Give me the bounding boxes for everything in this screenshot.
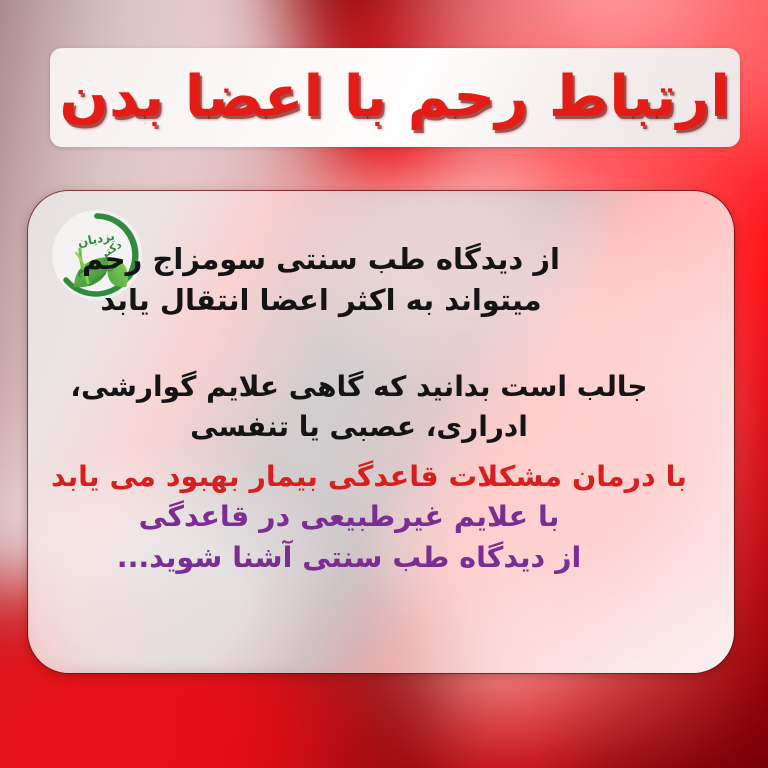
paragraph-three: با درمان مشکلات قاعدگی بیمار بهبود می یا… [28, 457, 710, 578]
paragraph-two-line-1: جالب است بدانید که گاهی علایم گوارشی، [28, 367, 710, 407]
page-title: ارتباط رحم با اعضا بدن [60, 69, 731, 126]
paragraph-three-line-1: با درمان مشکلات قاعدگی بیمار بهبود می یا… [28, 457, 710, 497]
paragraph-one-line-1: از دیدگاه طب سنتی سومزاج رحم [28, 239, 710, 280]
paragraph-three-line-3: از دیدگاه طب سنتی آشنا شوید... [28, 538, 710, 578]
card-inner: یزدیان دکتر مریم طب سنتی از دیدگاه طب سن… [28, 191, 734, 673]
paragraph-two: جالب است بدانید که گاهی علایم گوارشی، اد… [28, 367, 710, 447]
card-text-content: از دیدگاه طب سنتی سومزاج رحم میتواند به … [28, 231, 710, 578]
paragraph-two-line-2: ادراری، عصبی یا تنفسی [28, 407, 710, 447]
content-card: یزدیان دکتر مریم طب سنتی از دیدگاه طب سن… [27, 190, 735, 674]
paragraph-three-line-2: با علایم غیرطبیعی در قاعدگی [28, 497, 710, 537]
paragraph-one: از دیدگاه طب سنتی سومزاج رحم میتواند به … [28, 239, 710, 321]
title-banner: ارتباط رحم با اعضا بدن [50, 48, 740, 147]
poster-canvas: ارتباط رحم با اعضا بدن [0, 0, 768, 768]
paragraph-one-line-2: میتواند به اکثر اعضا انتقال یابد [28, 280, 710, 321]
